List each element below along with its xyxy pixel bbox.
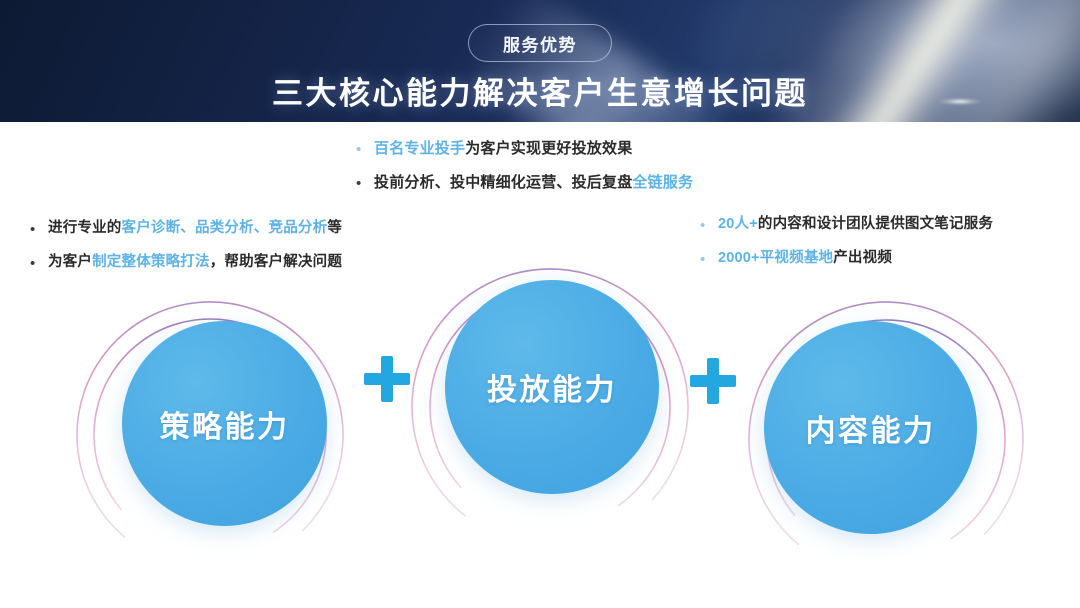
plain-text: 为客户	[48, 254, 92, 270]
plain-text: 产出视频	[833, 250, 892, 266]
bullet-row-text: 为客户制定整体策略打法，帮助客户解决问题	[48, 253, 342, 273]
highlight-text: 客户诊断、品类分析、竞品分析	[122, 220, 328, 236]
plain-text: 为客户实现更好投放效果	[465, 140, 632, 157]
bullet-row: •进行专业的客户诊断、品类分析、竞品分析等	[30, 219, 342, 239]
bullet-row: •2000+平视频基地产出视频	[700, 249, 993, 269]
plain-text: ，帮助客户解决问题	[210, 254, 342, 270]
plain-text: 进行专业的	[48, 220, 122, 236]
bullet-row: •为客户制定整体策略打法，帮助客户解决问题	[30, 253, 342, 273]
plain-text: 的内容和设计团队提供图文笔记服务	[758, 216, 993, 232]
plus-connector-2-icon	[690, 358, 736, 404]
plus-connector-1-icon	[364, 356, 410, 402]
section-badge-label: 服务优势	[503, 31, 577, 56]
bullet-marker-icon: •	[30, 219, 48, 237]
bullet-row: •百名专业投手为客户实现更好投放效果	[356, 139, 693, 159]
capability-circle-3[interactable]: 内容能力	[742, 295, 1030, 583]
right-text-block: •20人+的内容和设计团队提供图文笔记服务•2000+平视频基地产出视频	[700, 215, 993, 268]
bullet-row-text: 20人+的内容和设计团队提供图文笔记服务	[718, 215, 993, 235]
left-text-block: •进行专业的客户诊断、品类分析、竞品分析等•为客户制定整体策略打法，帮助客户解决…	[30, 219, 342, 272]
bullet-row-text: 2000+平视频基地产出视频	[718, 249, 892, 269]
bullet-row-text: 进行专业的客户诊断、品类分析、竞品分析等	[48, 219, 342, 239]
capability-circle-3-disc[interactable]: 内容能力	[764, 321, 977, 534]
capability-circle-2-disc[interactable]: 投放能力	[445, 280, 659, 494]
highlight-text: 全链服务	[632, 174, 693, 191]
bullet-row-text: 投前分析、投中精细化运营、投后复盘全链服务	[374, 173, 693, 193]
bullet-row: •投前分析、投中精细化运营、投后复盘全链服务	[356, 173, 693, 193]
capability-circle-1[interactable]: 策略能力	[70, 295, 350, 575]
bullet-row: •20人+的内容和设计团队提供图文笔记服务	[700, 215, 993, 235]
slide-root: 服务优势 三大核心能力解决客户生意增长问题 •百名专业投手为客户实现更好投放效果…	[0, 0, 1080, 608]
bullet-marker-icon: •	[356, 139, 374, 157]
highlight-text: 2000+平视频基地	[718, 250, 833, 266]
capability-circle-1-disc[interactable]: 策略能力	[122, 321, 327, 526]
bullet-marker-icon: •	[700, 249, 718, 267]
bullet-marker-icon: •	[30, 253, 48, 271]
top-center-text-block: •百名专业投手为客户实现更好投放效果•投前分析、投中精细化运营、投后复盘全链服务	[356, 139, 693, 194]
highlight-text: 制定整体策略打法	[92, 254, 210, 270]
plain-text: 等	[327, 220, 342, 236]
capability-circle-2-label: 投放能力	[487, 365, 617, 409]
capability-circle-2[interactable]: 投放能力	[405, 262, 695, 552]
highlight-text: 百名专业投手	[374, 140, 465, 157]
bullet-marker-icon: •	[700, 215, 718, 233]
capability-circle-1-label: 策略能力	[160, 402, 290, 446]
page-title: 三大核心能力解决客户生意增长问题	[0, 68, 1080, 113]
section-badge: 服务优势	[468, 24, 612, 62]
plain-text: 投前分析、投中精细化运营、投后复盘	[374, 174, 632, 191]
capability-circle-3-label: 内容能力	[806, 406, 936, 450]
highlight-text: 20人+	[718, 216, 758, 232]
bullet-row-text: 百名专业投手为客户实现更好投放效果	[374, 139, 632, 159]
header-banner: 服务优势 三大核心能力解决客户生意增长问题	[0, 0, 1080, 122]
bullet-marker-icon: •	[356, 173, 374, 191]
